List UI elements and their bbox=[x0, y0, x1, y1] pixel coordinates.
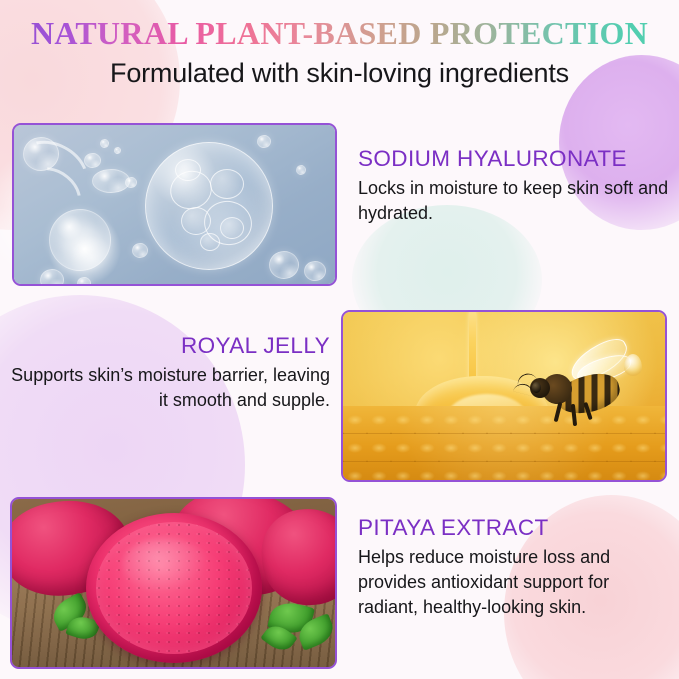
ingredient-name-sodium-hyaluronate: SODIUM HYALURONATE bbox=[358, 146, 670, 172]
ingredient-description-royal-jelly: Supports skin’s moisture barrier, leavin… bbox=[8, 363, 330, 413]
honey-bee-illustration bbox=[343, 312, 665, 480]
bee-icon bbox=[528, 350, 638, 428]
ingredient-photo-sodium-hyaluronate bbox=[12, 123, 337, 286]
bubbles-illustration bbox=[14, 125, 335, 284]
page-subtitle: Formulated with skin-loving ingredients bbox=[0, 49, 679, 89]
page-title: NATURAL PLANT-BASED PROTECTION bbox=[0, 0, 679, 49]
dragon-fruit-illustration bbox=[12, 499, 335, 667]
ingredient-infographic: NATURAL PLANT-BASED PROTECTION Formulate… bbox=[0, 0, 679, 679]
header: NATURAL PLANT-BASED PROTECTION Formulate… bbox=[0, 0, 679, 89]
ingredient-text-royal-jelly: ROYAL JELLY Supports skin’s moisture bar… bbox=[8, 333, 330, 413]
ingredient-photo-royal-jelly bbox=[341, 310, 667, 482]
ingredient-description-pitaya-extract: Helps reduce moisture loss and provides … bbox=[358, 545, 670, 619]
ingredient-name-pitaya-extract: PITAYA EXTRACT bbox=[358, 515, 670, 541]
ingredient-text-pitaya-extract: PITAYA EXTRACT Helps reduce moisture los… bbox=[358, 515, 670, 619]
ingredient-text-sodium-hyaluronate: SODIUM HYALURONATE Locks in moisture to … bbox=[358, 146, 670, 226]
ingredient-name-royal-jelly: ROYAL JELLY bbox=[8, 333, 330, 359]
ingredient-photo-pitaya-extract bbox=[10, 497, 337, 669]
ingredient-description-sodium-hyaluronate: Locks in moisture to keep skin soft and … bbox=[358, 176, 670, 226]
